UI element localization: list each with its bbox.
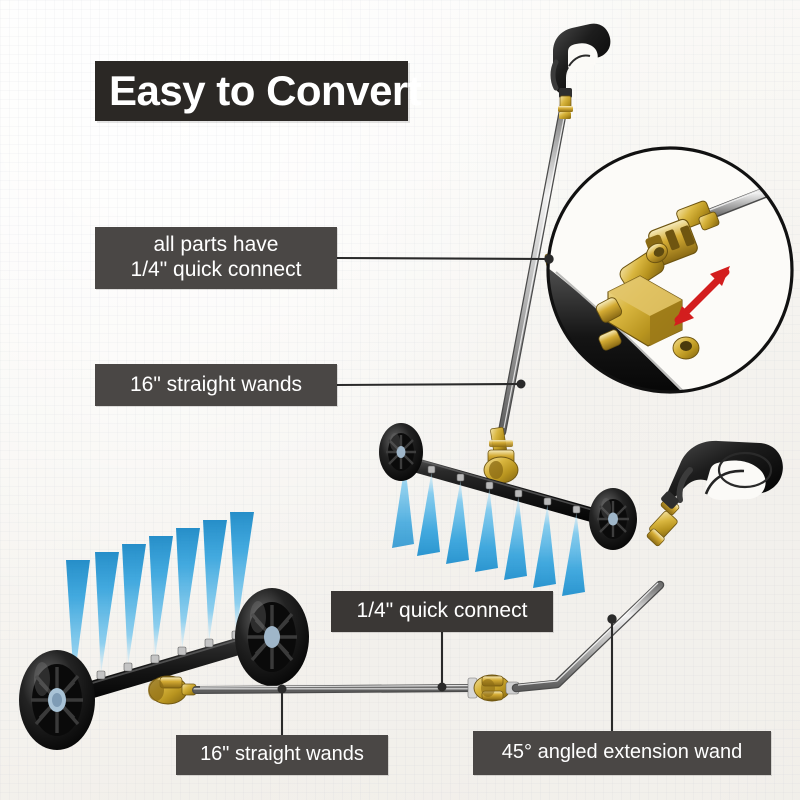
broom-wheel-upper-left xyxy=(379,423,423,481)
lower-straight-wand xyxy=(196,686,478,691)
brass-tee-coupler-upper-broom xyxy=(484,427,518,483)
callout-line-1: 16" straight wands xyxy=(200,743,364,767)
callout-line-1: 1/4" quick connect xyxy=(357,599,528,624)
callout-quick-connect-mid: 1/4" quick connect xyxy=(331,591,553,632)
callout-angled-extension-wand: 45° angled extension wand xyxy=(473,731,771,775)
trigger-gun-lower xyxy=(660,441,783,510)
water-broom-bar-lower xyxy=(19,588,309,750)
broom-wheel-lower-left xyxy=(19,650,95,750)
quick-connect-detail-inset xyxy=(540,148,792,420)
broom-wheel-upper-right xyxy=(589,488,637,550)
callout-straight-wands-bottom: 16" straight wands xyxy=(176,735,388,775)
callout-straight-wands-top: 16" straight wands xyxy=(95,364,337,406)
callout-line-2: 1/4" quick connect xyxy=(131,258,302,283)
broom-wheel-lower-right xyxy=(235,588,309,686)
callout-line-1: 16" straight wands xyxy=(130,373,302,398)
water-broom-bar-upper xyxy=(379,423,637,596)
brass-coupler-lower-broom xyxy=(148,676,196,704)
callout-quick-connect-top: all parts have 1/4" quick connect xyxy=(95,227,337,289)
title-banner: Easy to Convert xyxy=(95,61,408,121)
callout-line-1: all parts have xyxy=(154,233,279,258)
callout-line-1: 45° angled extension wand xyxy=(502,741,742,765)
brass-coupler-angled-joint xyxy=(468,675,519,701)
infographic-canvas: Easy to Convert all parts have 1/4" quic… xyxy=(0,0,800,800)
trigger-gun-upper xyxy=(553,24,610,119)
page-title: Easy to Convert xyxy=(95,70,421,112)
